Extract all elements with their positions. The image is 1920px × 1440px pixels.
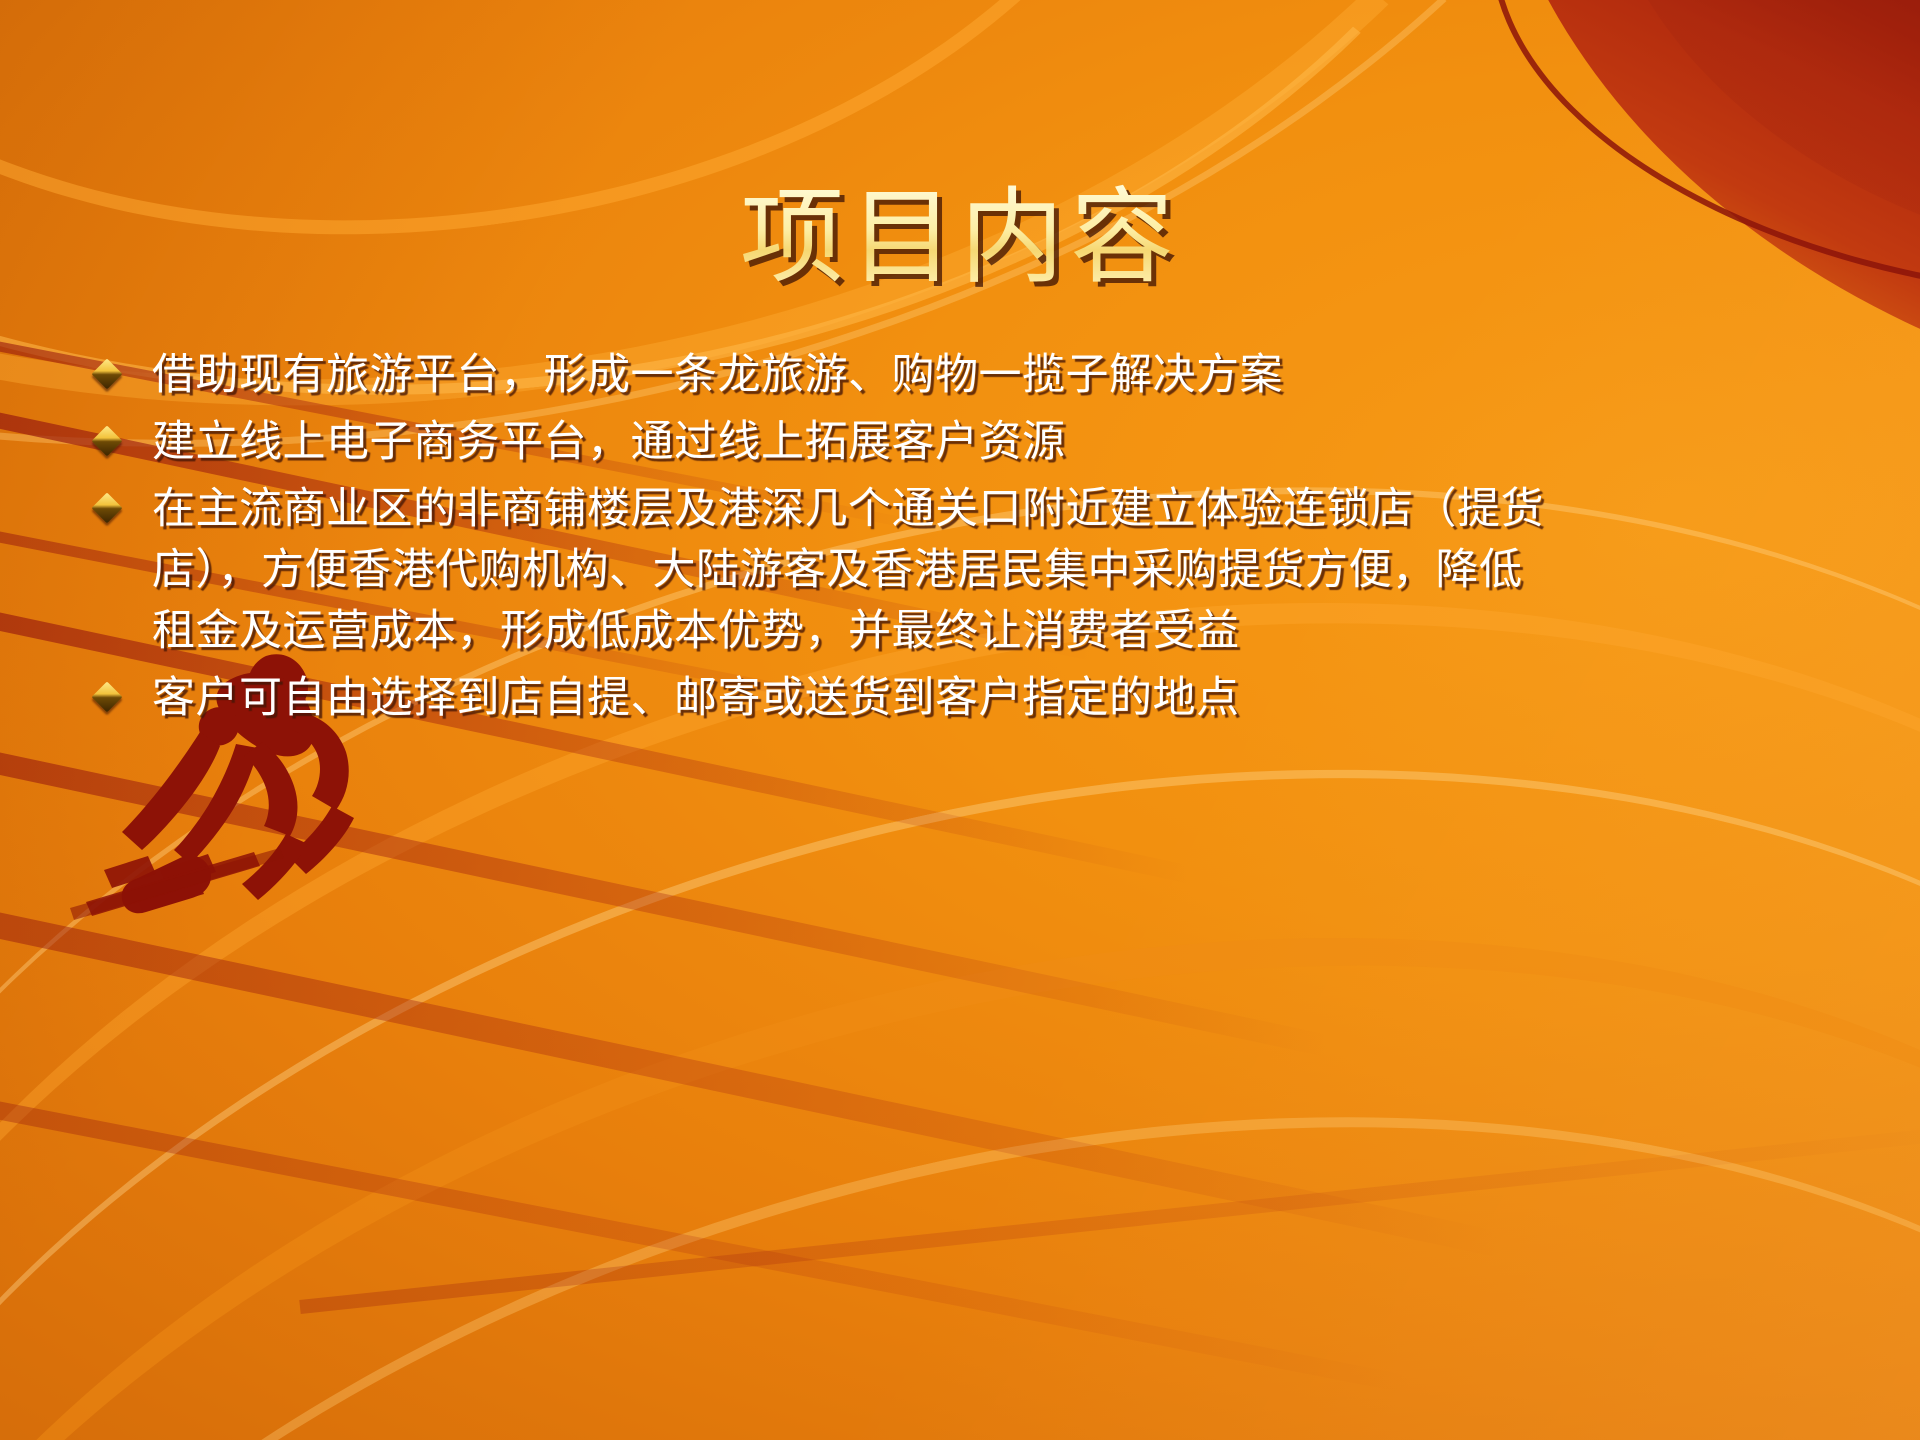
bullet-line: 借助现有旅游平台，形成一条龙旅游、购物一揽子解决方案 bbox=[152, 345, 1836, 406]
bullet-text: 建立线上电子商务平台，通过线上拓展客户资源 bbox=[152, 412, 1836, 473]
bullet-marker bbox=[96, 412, 152, 452]
gold-diamond-bullet-icon bbox=[91, 425, 122, 456]
bullet-line: 店），方便香港代购机构、大陆游客及香港居民集中采购提货方便，降低 bbox=[152, 540, 1836, 601]
bullet-line: 客户可自由选择到店自提、邮寄或送货到客户指定的地点 bbox=[152, 668, 1836, 729]
bullet-text: 在主流商业区的非商铺楼层及港深几个通关口附近建立体验连锁店（提货 店），方便香港… bbox=[152, 479, 1836, 662]
bullet-marker bbox=[96, 479, 152, 519]
page-title: 项目内容 bbox=[0, 182, 1920, 296]
presentation-slide: 项目内容 借助现有旅游平台，形成一条龙旅游、购物一揽子解决方案 建立线上电子商务… bbox=[0, 0, 1920, 1440]
gold-diamond-bullet-icon bbox=[91, 493, 122, 524]
bullet-marker bbox=[96, 668, 152, 708]
list-item: 建立线上电子商务平台，通过线上拓展客户资源 bbox=[96, 412, 1836, 473]
bullet-line: 建立线上电子商务平台，通过线上拓展客户资源 bbox=[152, 412, 1836, 473]
gold-diamond-bullet-icon bbox=[91, 358, 122, 389]
list-item: 借助现有旅游平台，形成一条龙旅游、购物一揽子解决方案 bbox=[96, 345, 1836, 406]
bullet-marker bbox=[96, 345, 152, 385]
bullet-list: 借助现有旅游平台，形成一条龙旅游、购物一揽子解决方案 建立线上电子商务平台，通过… bbox=[96, 345, 1836, 735]
list-item: 客户可自由选择到店自提、邮寄或送货到客户指定的地点 bbox=[96, 668, 1836, 729]
list-item: 在主流商业区的非商铺楼层及港深几个通关口附近建立体验连锁店（提货 店），方便香港… bbox=[96, 479, 1836, 662]
gold-diamond-bullet-icon bbox=[91, 682, 122, 713]
bullet-text: 借助现有旅游平台，形成一条龙旅游、购物一揽子解决方案 bbox=[152, 345, 1836, 406]
bullet-line: 在主流商业区的非商铺楼层及港深几个通关口附近建立体验连锁店（提货 bbox=[152, 479, 1836, 540]
bullet-text: 客户可自由选择到店自提、邮寄或送货到客户指定的地点 bbox=[152, 668, 1836, 729]
bullet-line: 租金及运营成本，形成低成本优势，并最终让消费者受益 bbox=[152, 601, 1836, 662]
